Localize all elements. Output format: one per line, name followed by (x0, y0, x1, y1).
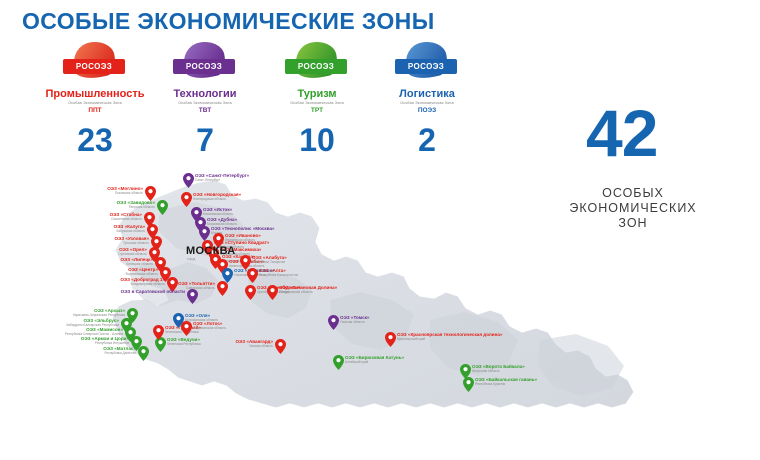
zone-region: Тульская область (114, 241, 149, 245)
rosoez-logo-icon: РОСОЭЗ (55, 42, 135, 86)
map-label: ОЭЗ «Моглино»Псковская область (107, 186, 143, 196)
zone-region: Иркутская область (472, 369, 525, 373)
map-label: ОЭЗ «Байкальская гавань»Республика Бурят… (475, 377, 537, 387)
map-pin[interactable] (463, 377, 474, 392)
logo-abbr: ТВТ (140, 106, 270, 115)
map-label: ОЭЗ «Красноярская технологическая долина… (397, 332, 503, 342)
map-label: ОЭЗ «Центр»Воронежская область (126, 267, 158, 277)
logo-badge-text: РОСОЭЗ (173, 59, 235, 74)
map-label: ОЭЗ в Саратовской области (121, 289, 185, 294)
zone-region: Смоленская область (110, 217, 142, 221)
map-label: ОЭЗ «Армхи и Цори»Республика Ингушетия (81, 336, 129, 346)
rosoez-logo-icon: РОСОЭЗ (277, 42, 357, 86)
zone-region: Омская область (235, 344, 273, 348)
map-pin[interactable] (199, 226, 210, 241)
zone-region: Чеченская Республика (167, 342, 201, 346)
zone-region: Республика Дагестан (103, 351, 136, 355)
map-pin[interactable] (267, 285, 278, 300)
map-label: ОЭЗ «Новгородская»Новгородская область (193, 192, 241, 202)
logo-block-поэз: РОСОЭЗЛогистикаОсобая Экономическая Зона… (362, 42, 492, 115)
zone-region: Самарская область (178, 286, 215, 290)
map-pin[interactable] (187, 289, 198, 304)
logo-name: Технологии (140, 88, 270, 100)
zone-region: Республика Башкортостан (259, 273, 298, 277)
map-shape (0, 150, 760, 460)
map-label: ОЭЗ «Титановая Долина»Свердловская облас… (279, 285, 337, 295)
map-label: ОЭЗ «Иваново»Ивановская область (225, 233, 261, 243)
map-label: ОЭЗ «Калуга»Калужская область (114, 224, 145, 234)
map-label: ОЭЗ «Томск»Томская область (340, 315, 370, 325)
map-pin[interactable] (275, 339, 286, 354)
map-pin[interactable] (157, 200, 168, 215)
infographic-root: ОСОБЫЕ ЭКОНОМИЧЕСКИЕ ЗОНЫ РОСОЭЗПромышле… (0, 0, 760, 460)
map-label: ОЭЗ «Ворота Байкала»Иркутская область (472, 364, 525, 374)
zone-region: Санкт-Петербург (195, 178, 249, 182)
map-pin[interactable] (328, 315, 339, 330)
map-label: ОЭЗ «Матлас»Республика Дагестан (103, 346, 136, 356)
map-label: ОЭЗ «Исток»Московская область (203, 207, 233, 217)
logo-abbr: ПОЭЗ (362, 106, 492, 115)
zone-region: Псковская область (107, 191, 143, 195)
map-pin[interactable] (247, 268, 258, 283)
logo-row: РОСОЭЗПромышленностьОсобая Экономическая… (0, 42, 520, 112)
map-label: ОЭЗ «Алабуга»Республика Татарстан (252, 255, 287, 265)
map-pin[interactable] (333, 355, 344, 370)
map-pin[interactable] (138, 346, 149, 361)
zone-region: Республика Бурятия (475, 382, 537, 386)
map-label: ОЭЗ «Лотос»Астраханская область (193, 321, 226, 331)
map-label: ОЭЗ «Ведучи»Чеченская Республика (167, 337, 201, 347)
rosoez-logo-icon: РОСОЭЗ (387, 42, 467, 86)
map-pin[interactable] (385, 332, 396, 347)
map-pin[interactable] (153, 325, 164, 340)
map-pin[interactable] (217, 281, 228, 296)
map-pin[interactable] (183, 173, 194, 188)
map-label: ОЭЗ «Узловая»Тульская область (114, 236, 149, 246)
zone-name: ОЭЗ в Саратовской области (121, 289, 185, 294)
logo-badge-text: РОСОЭЗ (285, 59, 347, 74)
count-поэз: 2 (362, 122, 492, 159)
zone-region: Республика Татарстан (252, 260, 287, 264)
logo-block-твт: РОСОЭЗТехнологииОсобая Экономическая Зон… (140, 42, 270, 115)
map-label: ОЭЗ «Алга»Республика Башкортостан (259, 268, 298, 278)
zone-region: Ивановская область (225, 238, 261, 242)
zone-region: Владимирская область (120, 282, 165, 286)
map-pin[interactable] (181, 321, 192, 336)
zone-region: Новгородская область (193, 197, 241, 201)
count-твт: 7 (140, 122, 270, 159)
map-pin[interactable] (145, 186, 156, 201)
map-label: ОЭЗ «Тольятти»Самарская область (178, 281, 215, 291)
zone-region: Тверская область (117, 205, 155, 209)
zone-region: Алтайский край (345, 360, 404, 364)
logo-badge-text: РОСОЭЗ (395, 59, 457, 74)
russia-map: ОЭЗ «Санкт-Петербург»Санкт-ПетербургОЭЗ … (0, 150, 760, 460)
map-label: ОЭЗ «Стабна»Смоленская область (110, 212, 142, 222)
map-label: ОЭЗ «Санкт-Петербург»Санкт-Петербург (195, 173, 249, 183)
zone-region: Калужская область (114, 229, 145, 233)
map-label: ОЭЗ «Бирюзовая Катунь»Алтайский край (345, 355, 404, 365)
zone-region: Астраханская область (193, 326, 226, 330)
zone-region: Свердловская область (279, 290, 337, 294)
map-label: ОЭЗ «Липецк»Липецкая область (120, 257, 153, 267)
map-label: ОЭЗ «Архыз»Карачаево-Черкесская Республи… (73, 308, 125, 318)
map-label: ОЭЗ «Доброград 1»Владимирская область (120, 277, 165, 287)
rosoez-logo-icon: РОСОЭЗ (165, 42, 245, 86)
moscow-city-sub: город (187, 257, 195, 261)
map-pin[interactable] (245, 285, 256, 300)
map-label: ОЭЗ «Завидово»Тверская область (117, 200, 155, 210)
page-title: ОСОБЫЕ ЭКОНОМИЧЕСКИЕ ЗОНЫ (22, 8, 435, 35)
logo-name: Логистика (362, 88, 492, 100)
map-label: ОЭЗ «Авангард»Омская область (235, 339, 273, 349)
map-pin[interactable] (181, 192, 192, 207)
moscow-city-label: МОСКВА (186, 245, 236, 257)
zone-region: Красноярский край (397, 337, 503, 341)
zone-region: Томская область (340, 320, 370, 324)
logo-badge-text: РОСОЭЗ (63, 59, 125, 74)
map-label: ОЭЗ «Орел»Орловская область (118, 247, 147, 257)
